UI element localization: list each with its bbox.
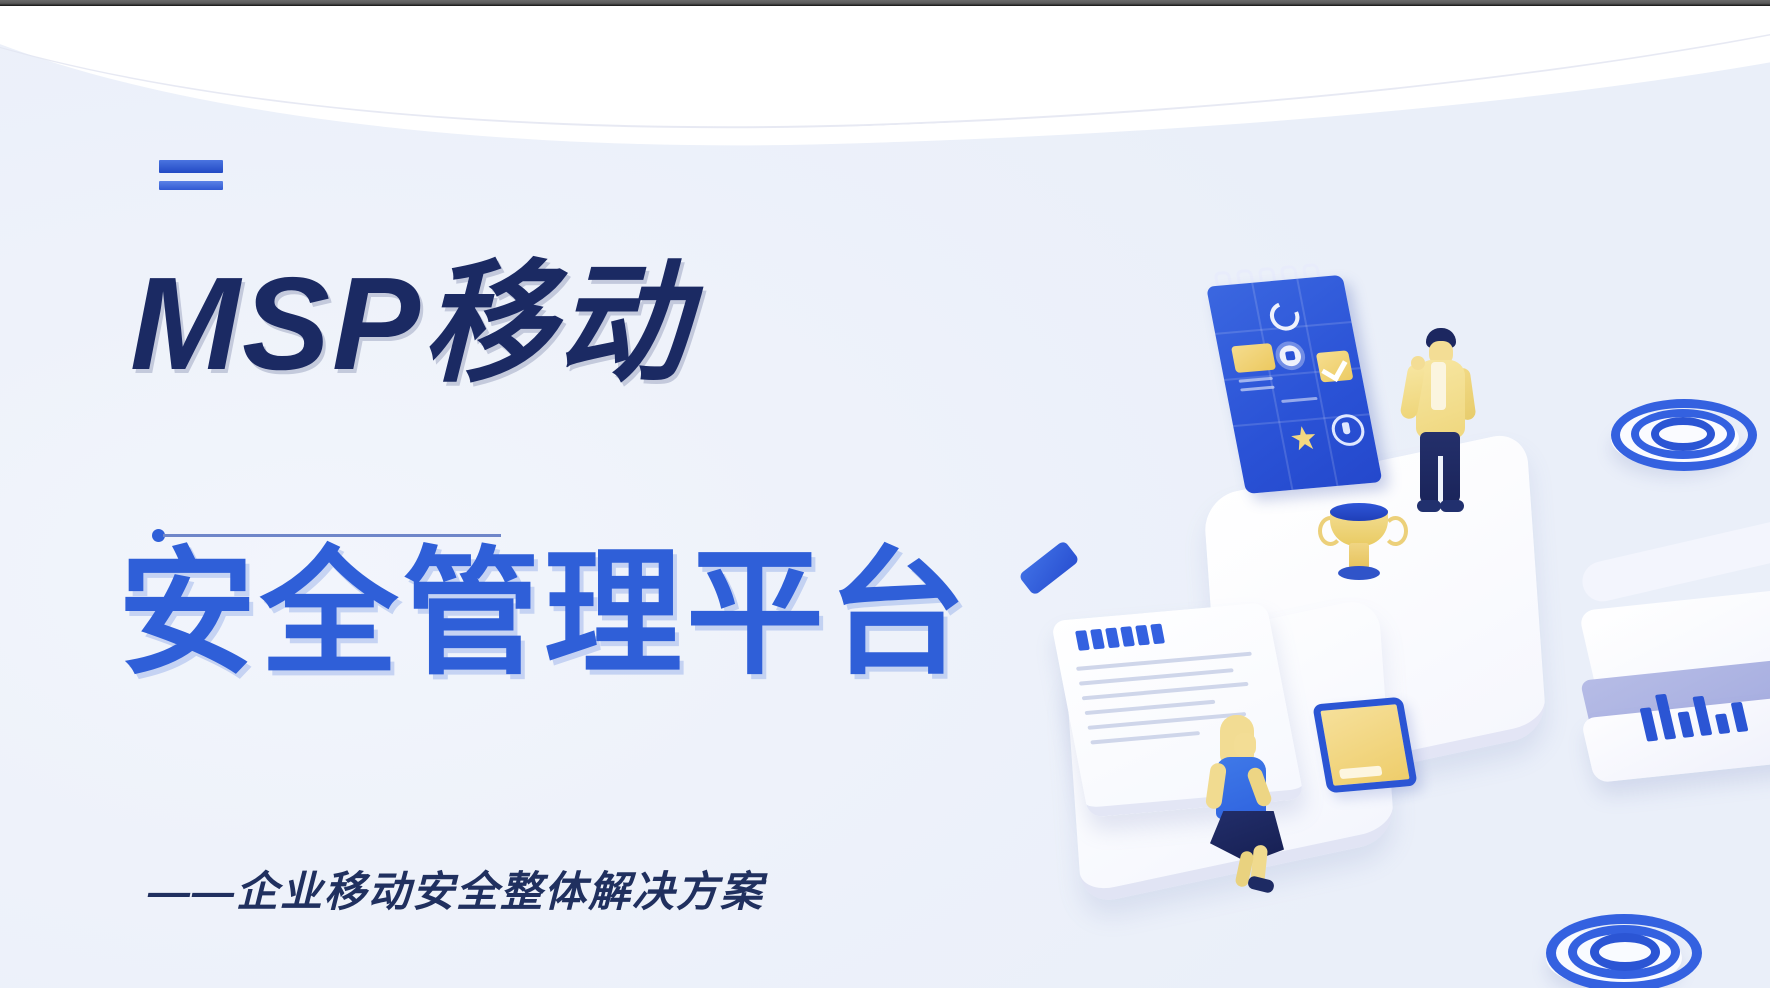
- target-ring-inner: [1651, 417, 1715, 451]
- document-header-chips: [1075, 624, 1165, 651]
- blue-chip-shape: [1018, 540, 1080, 596]
- note-icon: [1231, 343, 1276, 373]
- man-leg-gap: [1438, 456, 1443, 504]
- page-tagline: ——企业移动安全整体解决方案: [148, 858, 764, 919]
- concentric-target-lower: [1540, 900, 1690, 988]
- trophy-icon: [1320, 510, 1398, 582]
- trophy-cup-rim: [1330, 503, 1388, 521]
- isometric-shelf: [1578, 515, 1770, 606]
- calendar-body: [1206, 275, 1382, 494]
- man-shoe-right: [1440, 500, 1464, 512]
- seated-woman-figure: [1208, 715, 1288, 895]
- standing-man-figure: [1405, 328, 1475, 518]
- woman-shoe: [1247, 875, 1275, 894]
- list-lines: [1238, 377, 1275, 398]
- hero-illustration: [1020, 210, 1770, 988]
- woman-face: [1234, 733, 1256, 757]
- window-top-edge: [0, 0, 1770, 6]
- man-hand: [1411, 356, 1425, 370]
- man-shirt: [1431, 362, 1446, 410]
- trophy-base: [1338, 566, 1380, 580]
- page-title-main: MSP移动: [130, 258, 690, 390]
- device-bar-chart: [1636, 680, 1749, 741]
- picture-frame-icon: [1312, 697, 1418, 794]
- check-icon: [1316, 350, 1354, 382]
- man-shoe-left: [1417, 500, 1441, 512]
- presentation-slide: MSP移动 安全管理平台 ——企业移动安全整体解决方案: [0, 0, 1770, 988]
- equals-menu-icon[interactable]: [159, 160, 223, 190]
- blue-calendar-board: [1203, 261, 1382, 494]
- menu-bar-top: [159, 160, 223, 173]
- concentric-target-upper: [1605, 385, 1745, 473]
- menu-bar-bottom: [159, 181, 223, 190]
- page-title-sub: 安全管理平台: [118, 545, 970, 683]
- target-ring-inner: [1590, 933, 1660, 971]
- bar-chart-device: [1556, 582, 1770, 818]
